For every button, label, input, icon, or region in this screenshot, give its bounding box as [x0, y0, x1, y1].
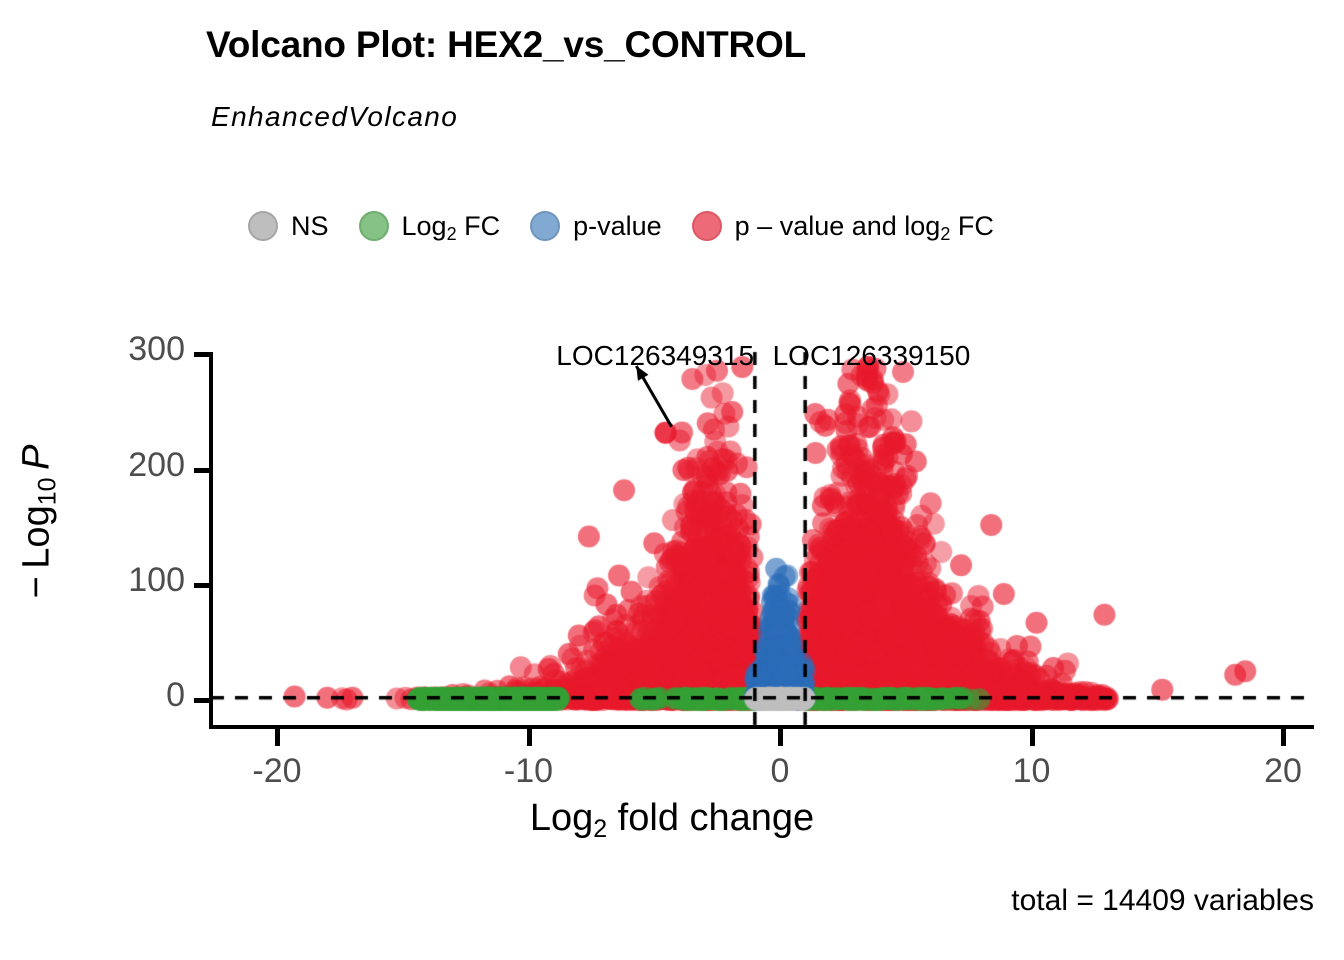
y-axis-tick [194, 352, 210, 357]
x-axis-tick-label: -20 [217, 752, 337, 791]
x-axis-tick-label: 10 [972, 752, 1092, 791]
total-variables-caption: total = 14409 variables [1011, 884, 1314, 918]
y-axis-tick-label: 0 [60, 676, 185, 715]
y-axis-tick [194, 583, 210, 588]
plot-panel: 0100200300-20-1001020 LOC126349315LOC126… [0, 0, 1344, 960]
x-axis-tick [1030, 729, 1035, 746]
x-axis-tick [275, 729, 280, 746]
volcano-plot-figure: Volcano Plot: HEX2_vs_CONTROL EnhancedVo… [0, 0, 1344, 960]
y-axis-tick-label: 100 [60, 561, 185, 600]
x-axis-tick-label: 20 [1223, 752, 1343, 791]
y-axis-tick-label: 300 [60, 330, 185, 369]
x-axis-tick [1281, 729, 1286, 746]
gene-label-1: LOC126339150 [773, 340, 971, 372]
y-axis-tick-label: 200 [60, 446, 185, 485]
y-axis-tick [194, 698, 210, 703]
x-axis-line [209, 725, 1314, 729]
x-axis-tick [778, 729, 783, 746]
gene-label-0: LOC126349315 [556, 340, 754, 372]
y-axis-title: − Log10 P [16, 322, 59, 722]
x-axis-title: Log2 fold change [0, 797, 1344, 840]
y-axis-tick [194, 468, 210, 473]
x-axis-tick [527, 729, 532, 746]
x-axis-tick-label: -10 [469, 752, 589, 791]
y-axis-line [209, 352, 213, 729]
x-axis-tick-label: 0 [720, 752, 840, 791]
